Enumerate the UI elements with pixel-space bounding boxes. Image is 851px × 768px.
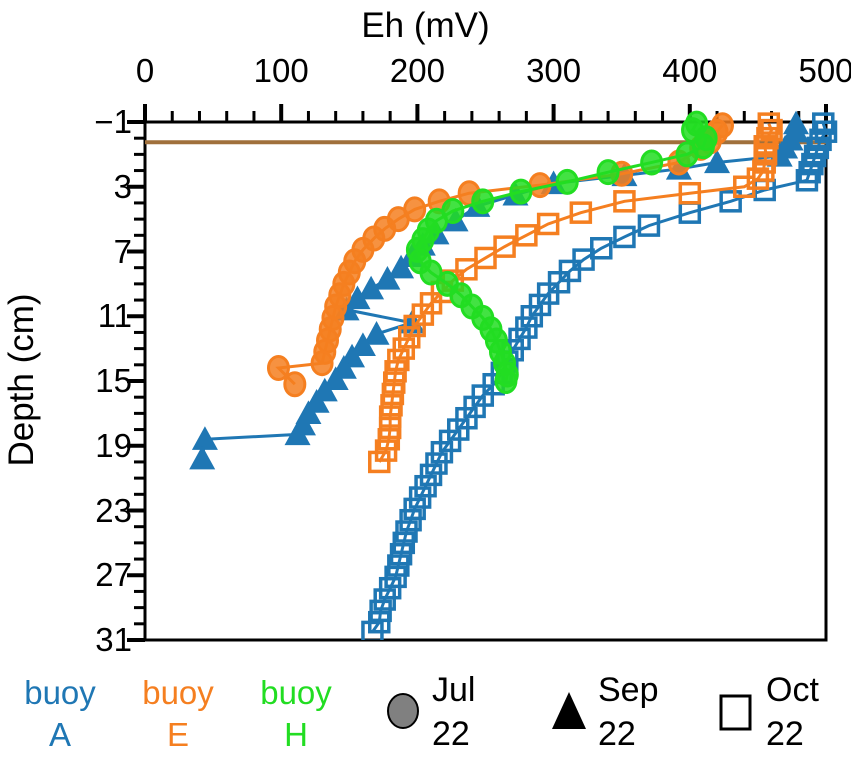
data-point-marker xyxy=(735,177,754,196)
data-point-marker xyxy=(539,214,558,233)
data-point-marker xyxy=(511,180,531,203)
legend-symbol-text: Sep22 xyxy=(598,668,659,756)
data-point-marker xyxy=(517,226,536,245)
legend-buoy-h: buoyH xyxy=(236,672,356,756)
legend-symbol-text: Oct22 xyxy=(766,668,819,756)
data-point-marker xyxy=(495,237,514,256)
chart-legend: buoyAbuoyEbuoyHJul22Sep22Oct22 xyxy=(0,672,851,768)
legend-month: Jul xyxy=(432,671,475,709)
data-point-marker xyxy=(370,452,389,471)
filled-circle-icon xyxy=(382,688,428,734)
data-point-marker xyxy=(598,161,618,184)
data-point-marker xyxy=(363,622,382,641)
data-point-marker xyxy=(571,203,590,222)
data-point-marker xyxy=(285,373,305,396)
data-point-marker xyxy=(496,370,516,393)
data-point-marker xyxy=(268,357,288,380)
legend-buoy-e: buoyE xyxy=(118,672,238,756)
data-point-marker xyxy=(680,184,699,203)
plot-area xyxy=(0,0,851,768)
legend-symbol-text: Jul22 xyxy=(432,668,475,756)
data-point-marker xyxy=(615,192,634,211)
filled-triangle-icon xyxy=(548,688,594,734)
data-point-marker xyxy=(615,227,634,246)
legend-month: Sep xyxy=(598,671,659,709)
legend-buoy-label: buoy xyxy=(260,674,332,711)
legend-buoy-id: E xyxy=(118,714,238,756)
legend-buoy-a: buoyA xyxy=(0,672,120,756)
legend-month: Oct xyxy=(766,671,819,709)
legend-year: 22 xyxy=(432,712,475,756)
data-point-marker xyxy=(642,151,662,174)
open-square-icon xyxy=(716,688,762,734)
data-point-marker xyxy=(473,190,493,213)
legend-year: 22 xyxy=(598,712,659,756)
data-point-marker xyxy=(476,248,495,267)
data-point-marker xyxy=(797,171,816,190)
data-point-marker xyxy=(677,143,697,166)
data-point-marker xyxy=(557,170,577,193)
data-point-marker xyxy=(680,203,699,222)
legend-buoy-label: buoy xyxy=(142,674,214,711)
legend-year: 22 xyxy=(766,712,819,756)
data-point-marker xyxy=(312,352,332,375)
chart-figure: Eh (mV) 0100200300400500 −13711151923273… xyxy=(0,0,851,768)
legend-buoy-label: buoy xyxy=(24,674,96,711)
legend-buoy-id: H xyxy=(236,714,356,756)
legend-buoy-id: A xyxy=(0,714,120,756)
data-point-marker xyxy=(639,216,658,235)
